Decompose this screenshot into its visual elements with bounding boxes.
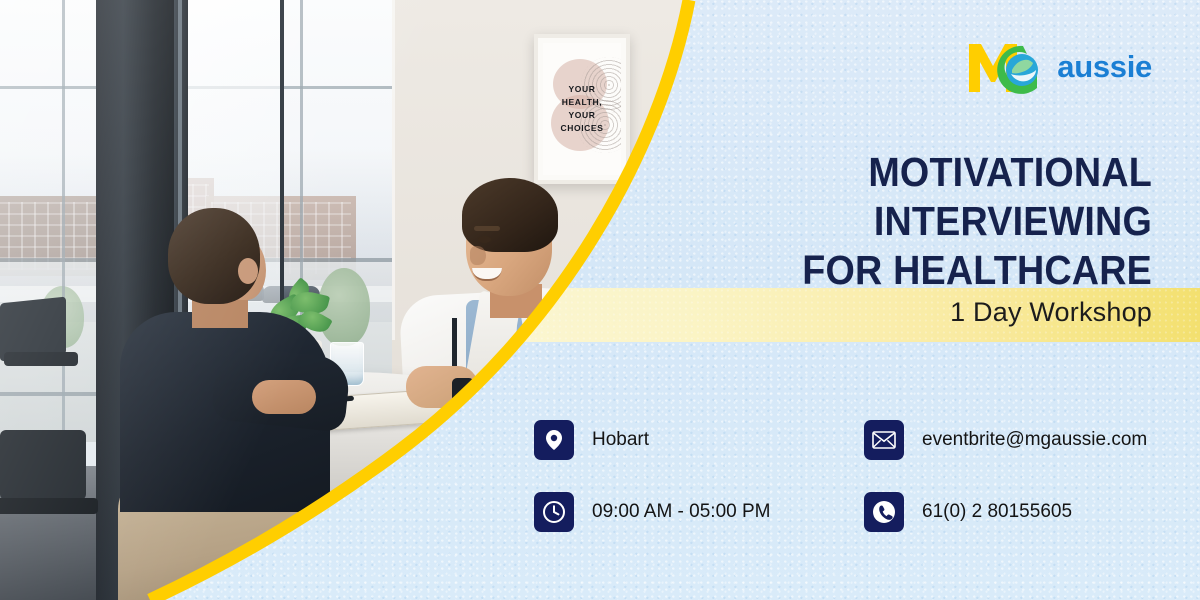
mg-aussie-logo-icon bbox=[965, 36, 1051, 98]
poster-line-2: HEALTH, bbox=[562, 97, 602, 107]
doctor-brow bbox=[474, 226, 500, 231]
doctor-eye bbox=[478, 236, 491, 243]
detail-email[interactable]: eventbrite@mgaussie.com bbox=[864, 420, 1174, 460]
window-mullion bbox=[62, 0, 65, 470]
brand-logo[interactable]: aussie bbox=[965, 36, 1152, 98]
detail-phone[interactable]: 61(0) 2 80155605 bbox=[864, 492, 1174, 532]
logo-wordmark: aussie bbox=[1057, 49, 1152, 85]
client-hands bbox=[252, 380, 316, 414]
location-pin-icon bbox=[534, 420, 574, 460]
phone-icon bbox=[864, 492, 904, 532]
poster-text: YOUR HEALTH, YOUR CHOICES bbox=[543, 83, 621, 135]
title-line-2: FOR HEALTHCARE bbox=[721, 246, 1152, 295]
wall-edge bbox=[392, 0, 395, 340]
event-details: Hobart eventbrite@mgaussie.com 09:00 AM … bbox=[534, 420, 1174, 532]
title-line-1: MOTIVATIONAL INTERVIEWING bbox=[721, 148, 1152, 246]
clock-icon bbox=[534, 492, 574, 532]
wall-poster: YOUR HEALTH, YOUR CHOICES bbox=[534, 34, 630, 184]
client-head bbox=[168, 208, 260, 304]
poster-artwork: YOUR HEALTH, YOUR CHOICES bbox=[543, 43, 621, 175]
poster-line-3: YOUR bbox=[569, 110, 596, 120]
location-value: Hobart bbox=[592, 429, 649, 451]
page-title: MOTIVATIONAL INTERVIEWING FOR HEALTHCARE bbox=[721, 148, 1152, 295]
waiting-chair bbox=[4, 352, 78, 366]
envelope-icon bbox=[864, 420, 904, 460]
workshop-label: 1 Day Workshop bbox=[950, 297, 1152, 328]
poster-line-1: YOUR bbox=[569, 84, 596, 94]
event-banner: YOUR HEALTH, YOUR CHOICES bbox=[0, 0, 1200, 600]
poster-line-4: CHOICES bbox=[561, 123, 604, 133]
waiting-chair bbox=[0, 430, 86, 500]
detail-location: Hobart bbox=[534, 420, 864, 460]
doctor-hair bbox=[462, 178, 558, 252]
waiting-chair bbox=[0, 498, 98, 514]
time-value: 09:00 AM - 05:00 PM bbox=[592, 501, 771, 523]
detail-time: 09:00 AM - 05:00 PM bbox=[534, 492, 864, 532]
client-ear bbox=[238, 258, 258, 284]
email-value: eventbrite@mgaussie.com bbox=[922, 429, 1147, 451]
doctor-nose bbox=[470, 246, 486, 265]
phone-value: 61(0) 2 80155605 bbox=[922, 501, 1072, 523]
